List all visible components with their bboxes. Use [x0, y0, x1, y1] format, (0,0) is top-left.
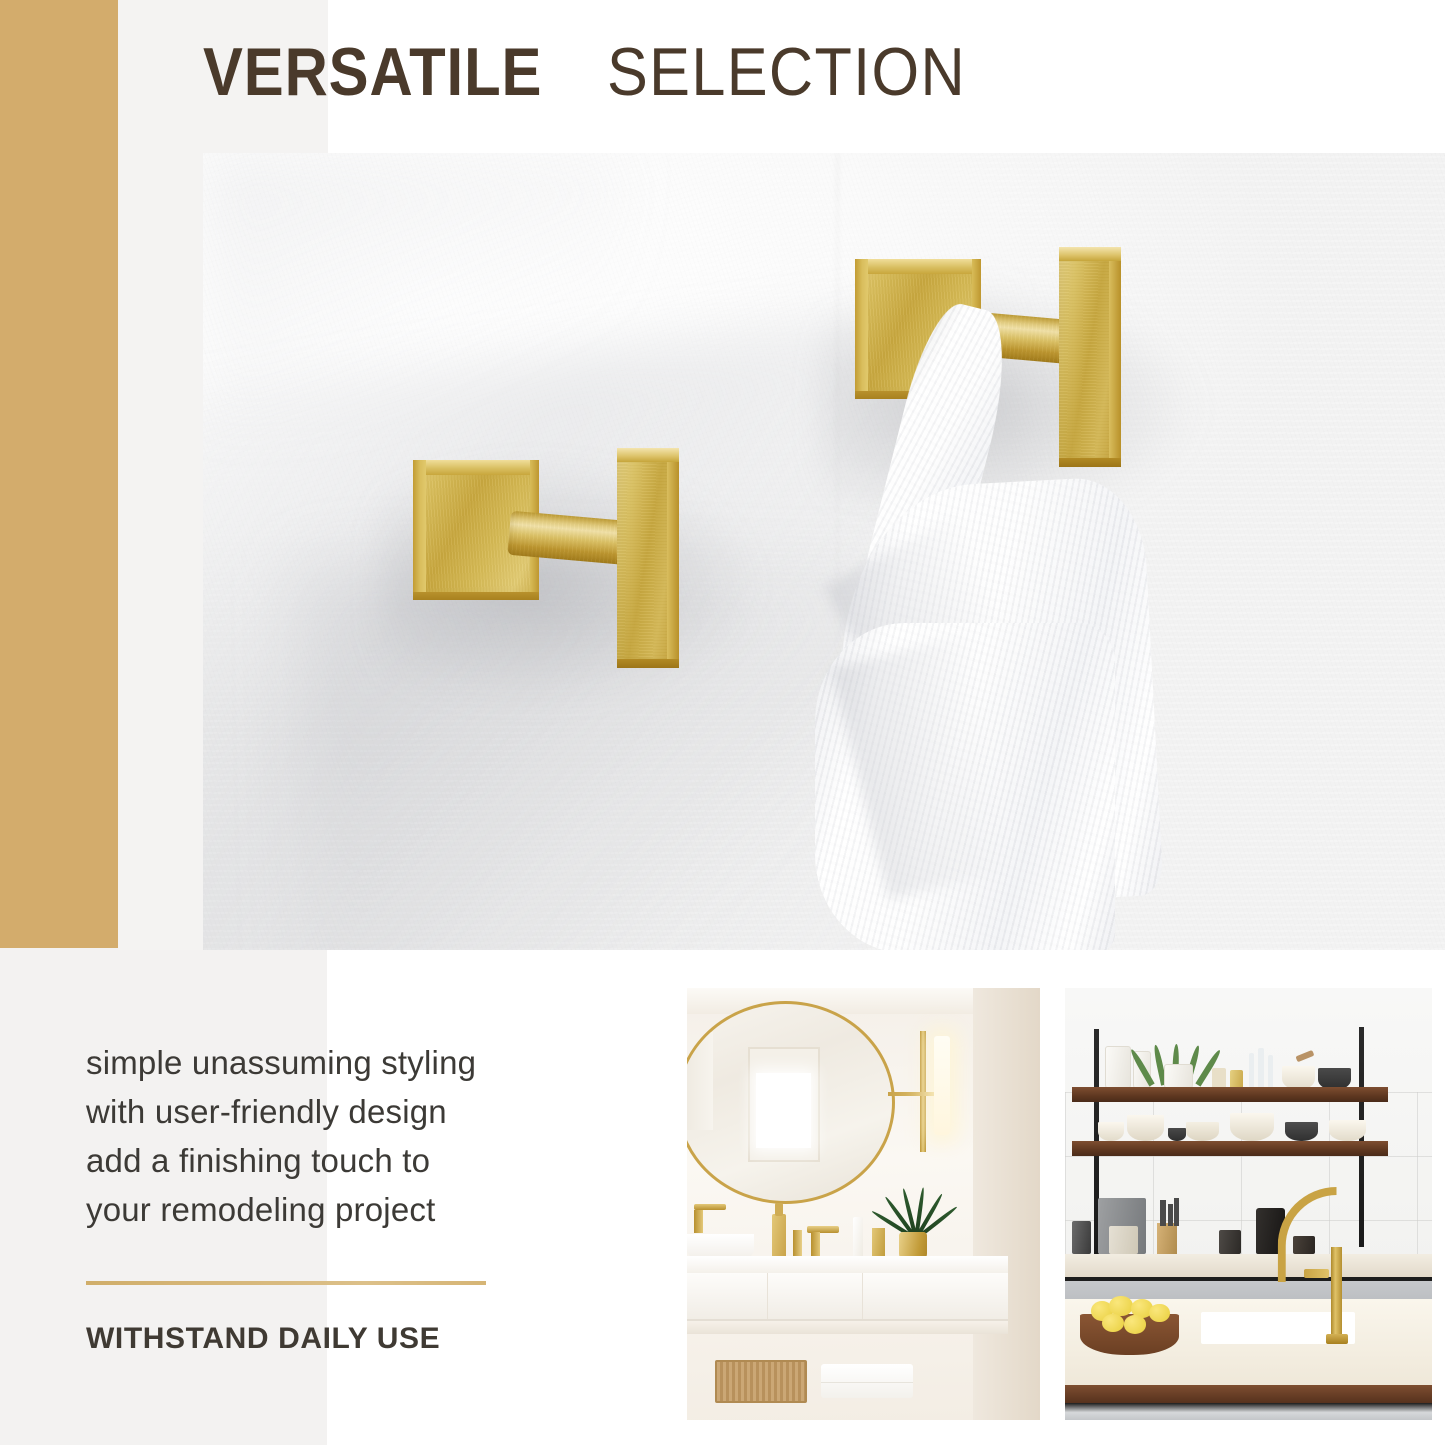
open-shelf-upper	[1072, 1087, 1388, 1101]
folded-towels	[821, 1364, 913, 1399]
plate-top-bevel	[855, 259, 981, 274]
cream-bowl	[1127, 1115, 1164, 1141]
glass-vase	[1258, 1048, 1264, 1089]
kitchen-countertop	[1065, 1254, 1432, 1278]
plate-left-bevel	[855, 259, 868, 399]
faucet-stem	[1331, 1247, 1342, 1342]
vanity-faucet-handle-right	[811, 1232, 820, 1258]
plate-bottom-bevel	[413, 592, 539, 600]
cream-bowl	[1282, 1066, 1315, 1090]
plant-foliage	[892, 1187, 941, 1239]
dark-canister	[1219, 1230, 1241, 1254]
soap-dispenser	[772, 1214, 786, 1257]
body-copy-line-2: with user-friendly design	[86, 1087, 566, 1136]
wall-hook-left	[399, 408, 709, 678]
glass-vase	[1249, 1053, 1255, 1090]
towel-hem	[815, 623, 1115, 950]
bar-bottom-cap	[617, 659, 679, 668]
island-base-panel	[1065, 1403, 1432, 1420]
plate-top-bevel	[413, 460, 539, 475]
utensil-spatula	[1168, 1204, 1173, 1226]
lotion-bottle	[853, 1217, 864, 1258]
dark-bowl	[1318, 1068, 1351, 1090]
body-copy-line-1: simple unassuming styling	[86, 1038, 566, 1087]
bar-bottom-cap	[1059, 458, 1121, 467]
faucet-base	[1326, 1334, 1348, 1344]
marketing-page: VERSATILESELECTION	[0, 0, 1445, 1445]
bar-top-cap	[1059, 247, 1121, 261]
hero-product-photo	[203, 153, 1445, 950]
sconce-light-tube	[934, 1036, 950, 1135]
title-word-bold: VERSATILE	[203, 38, 542, 106]
wall-mounted-faucet-handle	[694, 1210, 702, 1232]
faucet-handle	[1304, 1269, 1330, 1279]
title-word-light: SELECTION	[607, 38, 966, 106]
mirror-reflected-window	[756, 1073, 811, 1148]
lemon	[1102, 1314, 1124, 1332]
mirror-reflection-edge	[687, 1032, 713, 1131]
gallery-photo-bathroom	[687, 988, 1040, 1420]
bar-side-face	[1109, 247, 1121, 467]
ceramic-pitcher	[1105, 1046, 1131, 1089]
vanity-lower-shelf	[687, 1321, 1008, 1334]
open-shelf-lower	[1072, 1141, 1388, 1155]
vanity-faucet-handle-left	[793, 1230, 802, 1258]
plant-pot	[1164, 1064, 1193, 1090]
page-title: VERSATILESELECTION	[203, 38, 1005, 106]
bar-side-face	[667, 448, 679, 668]
gallery-photo-kitchen	[1065, 988, 1432, 1420]
coffee-machine-base	[1109, 1226, 1138, 1254]
plate-left-bevel	[413, 460, 426, 600]
island-wood-edge	[1065, 1385, 1432, 1403]
cream-bowl	[1098, 1122, 1124, 1141]
utensil-crock	[1157, 1223, 1177, 1253]
body-copy: simple unassuming styling with user-frie…	[86, 1038, 566, 1234]
bar-top-cap	[617, 448, 679, 462]
cream-bowl-large	[1230, 1113, 1274, 1141]
body-copy-line-3: add a finishing touch to	[86, 1136, 566, 1185]
bathroom-side-wall	[973, 988, 1040, 1420]
hook-left-bar-end	[617, 448, 679, 668]
dark-jar	[1072, 1221, 1090, 1253]
tagline: WITHSTAND DAILY USE	[86, 1322, 440, 1356]
cream-bowl	[1329, 1120, 1366, 1142]
utensil-whisk	[1160, 1200, 1165, 1226]
lemon	[1124, 1315, 1146, 1333]
gold-divider-rule	[86, 1281, 486, 1285]
small-pot	[1212, 1068, 1227, 1090]
vanity-drawers	[687, 1273, 1008, 1321]
body-copy-line-4: your remodeling project	[86, 1185, 566, 1234]
wicker-basket	[715, 1360, 807, 1403]
gold-accent-bar	[0, 0, 118, 948]
glass-vase	[1268, 1055, 1274, 1090]
utensil-ladle	[1174, 1198, 1179, 1226]
hook-right-bar-end	[1059, 247, 1121, 467]
lemon	[1149, 1304, 1169, 1322]
